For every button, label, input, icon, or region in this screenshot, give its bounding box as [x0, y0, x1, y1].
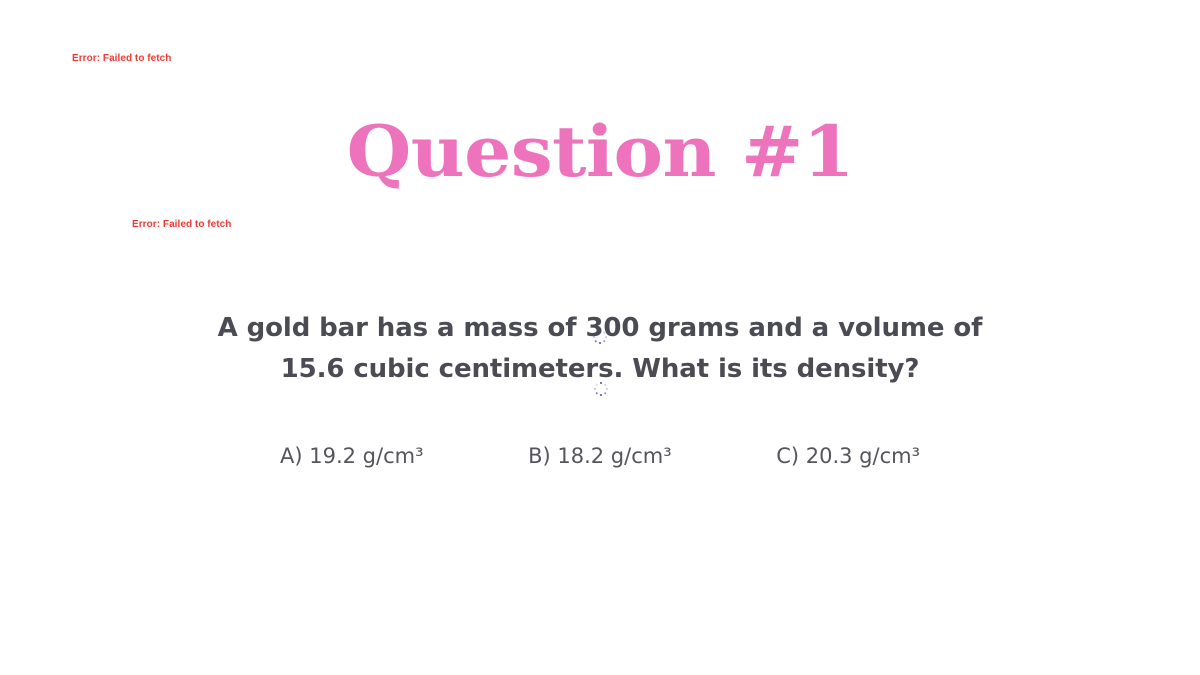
- error-message-middle: Error: Failed to fetch: [132, 218, 231, 231]
- answer-option-a[interactable]: A) 19.2 g/cm³: [280, 441, 424, 471]
- page-title-container: Question #1: [0, 104, 1200, 200]
- page-title: Question #1: [346, 104, 853, 200]
- question-container: A gold bar has a mass of 300 grams and a…: [200, 308, 1000, 390]
- slide-canvas: Error: Failed to fetch Error: Failed to …: [0, 0, 1200, 675]
- error-message-top: Error: Failed to fetch: [72, 52, 171, 65]
- loading-spinner-icon-top: [592, 329, 607, 344]
- loading-spinner-icon-bottom: [593, 381, 608, 396]
- answer-option-b[interactable]: B) 18.2 g/cm³: [528, 441, 672, 471]
- answer-options-row: A) 19.2 g/cm³ B) 18.2 g/cm³ C) 20.3 g/cm…: [280, 441, 920, 471]
- answer-option-c[interactable]: C) 20.3 g/cm³: [776, 441, 920, 471]
